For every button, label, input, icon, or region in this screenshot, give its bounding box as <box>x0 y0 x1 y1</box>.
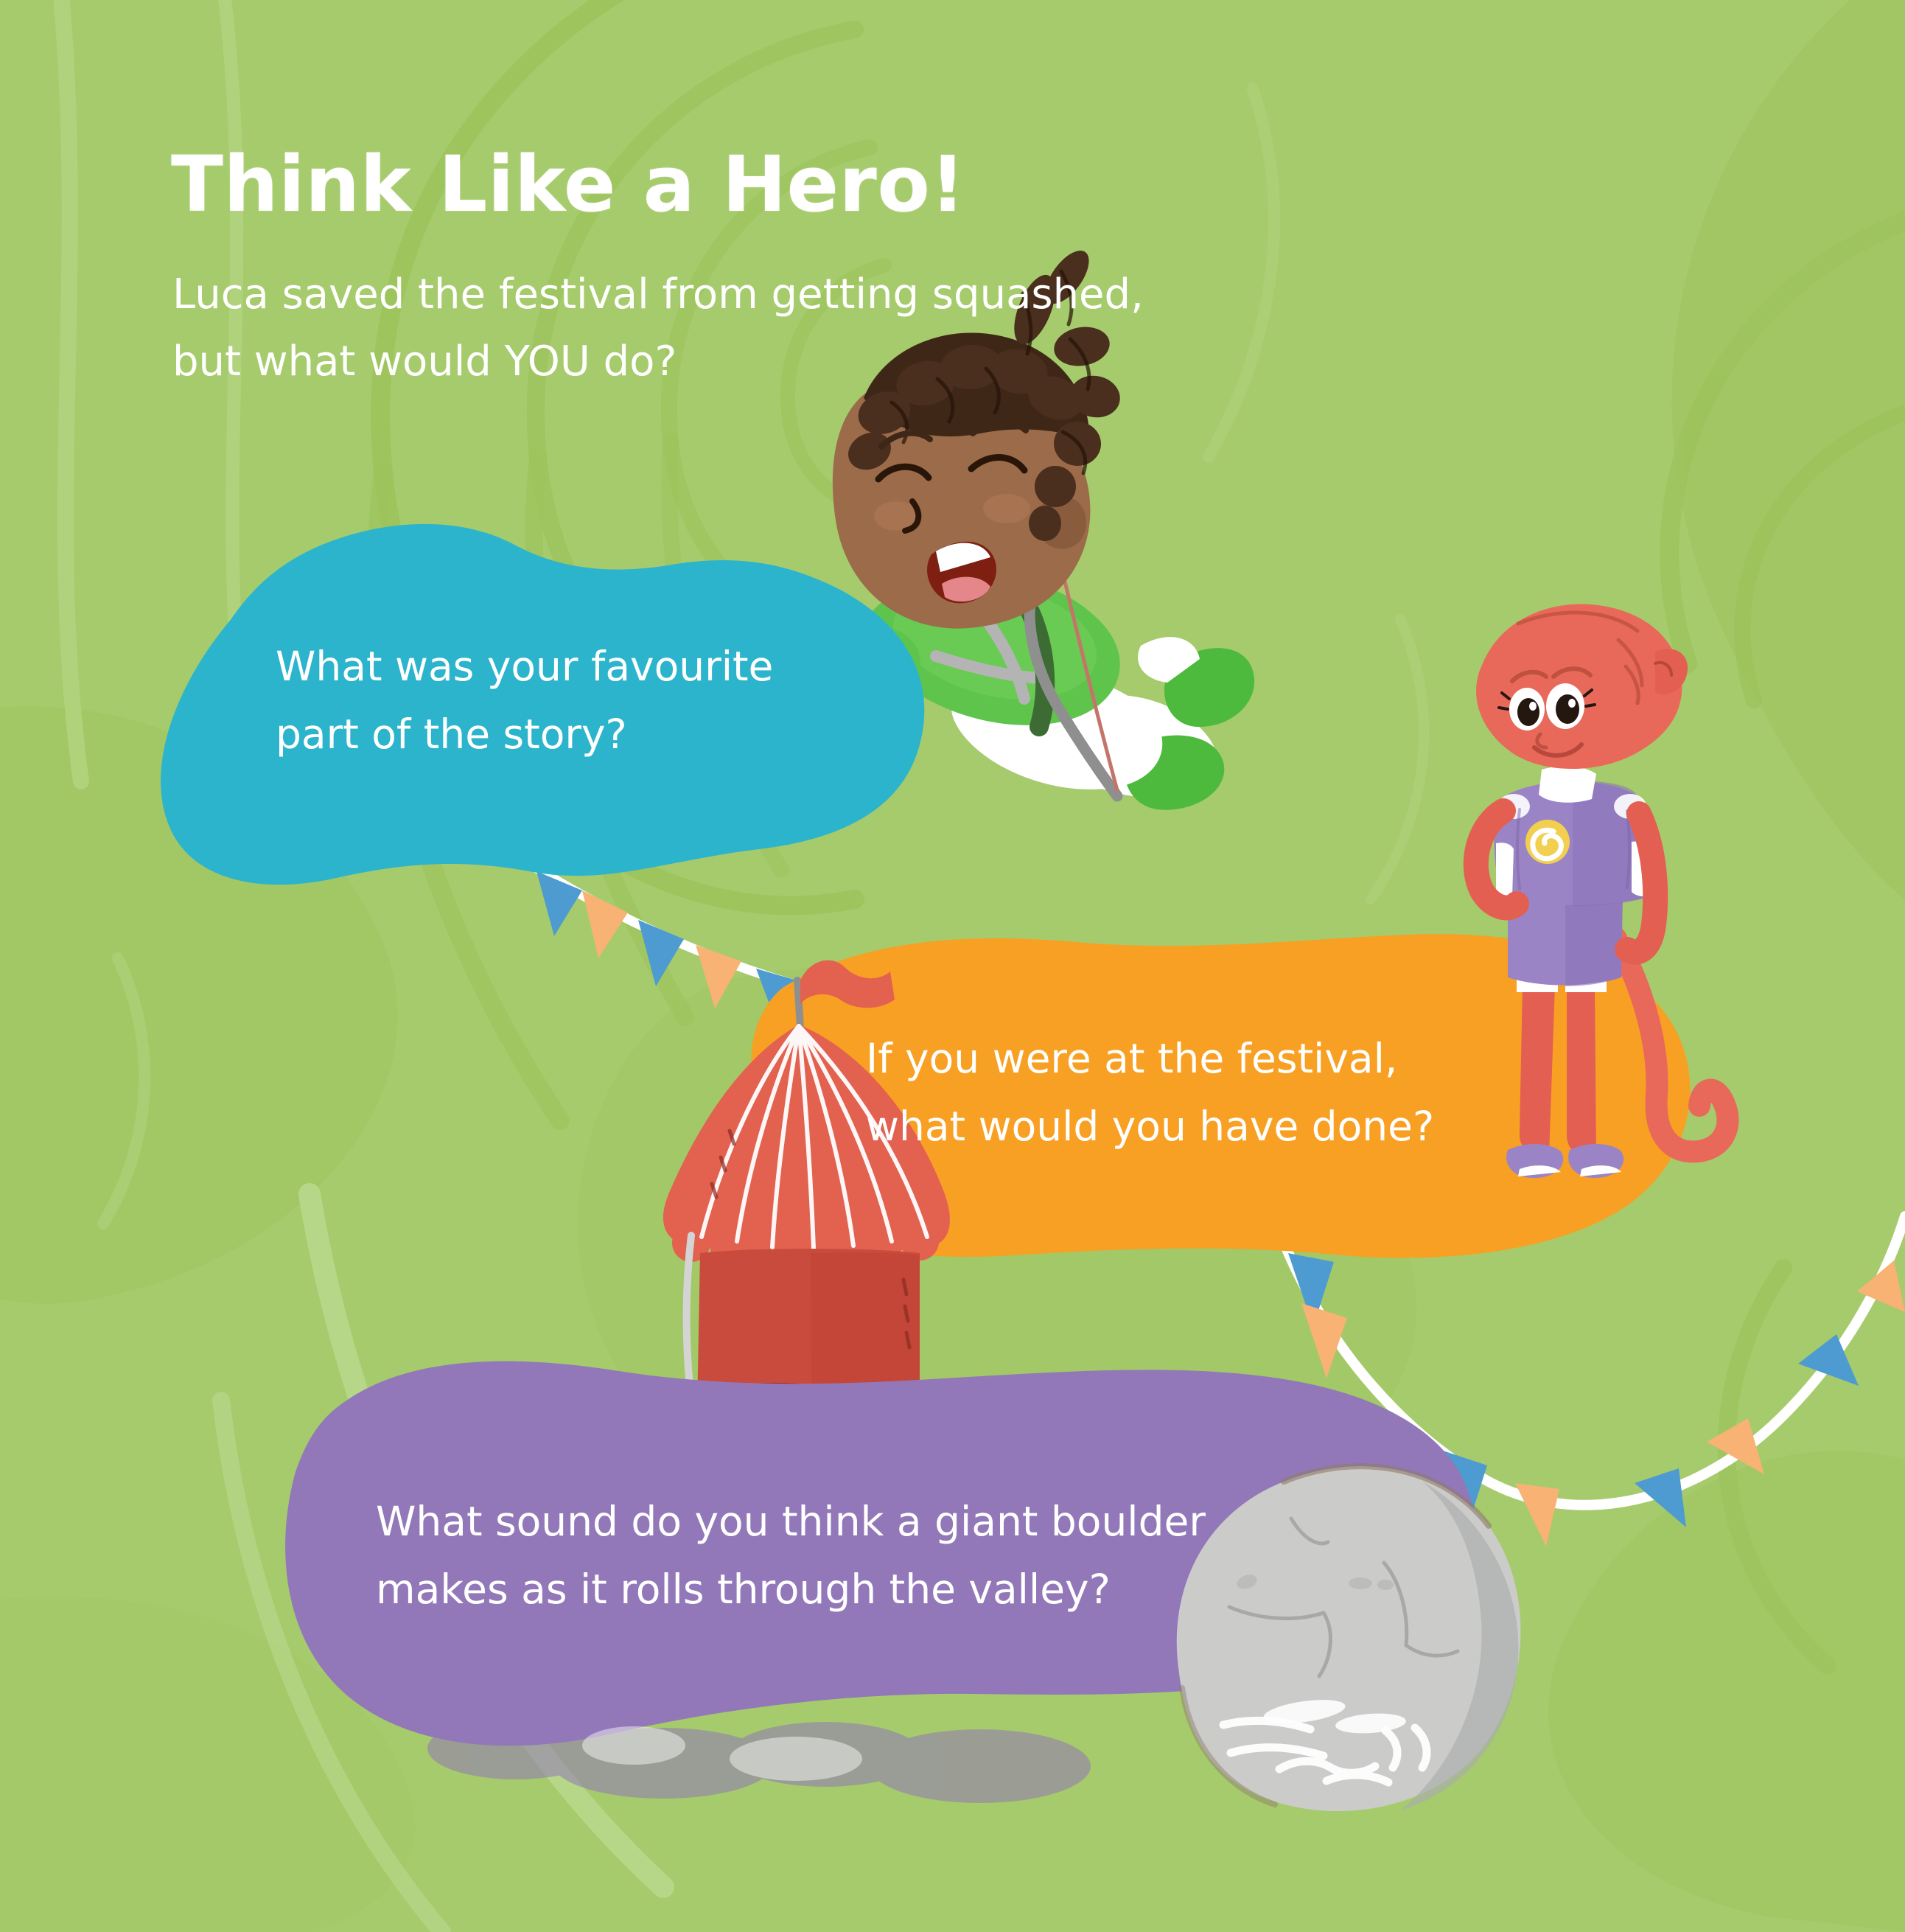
page-subtitle: Luca saved the festival from getting squ… <box>172 262 1144 395</box>
storybook-page: Think Like a Hero! Luca saved the festiv… <box>0 0 1905 1932</box>
subtitle-line-1: Luca saved the festival from getting squ… <box>172 262 1144 329</box>
page-title: Think Like a Hero! <box>171 144 965 225</box>
subtitle-line-2: but what would YOU do? <box>172 329 1144 396</box>
